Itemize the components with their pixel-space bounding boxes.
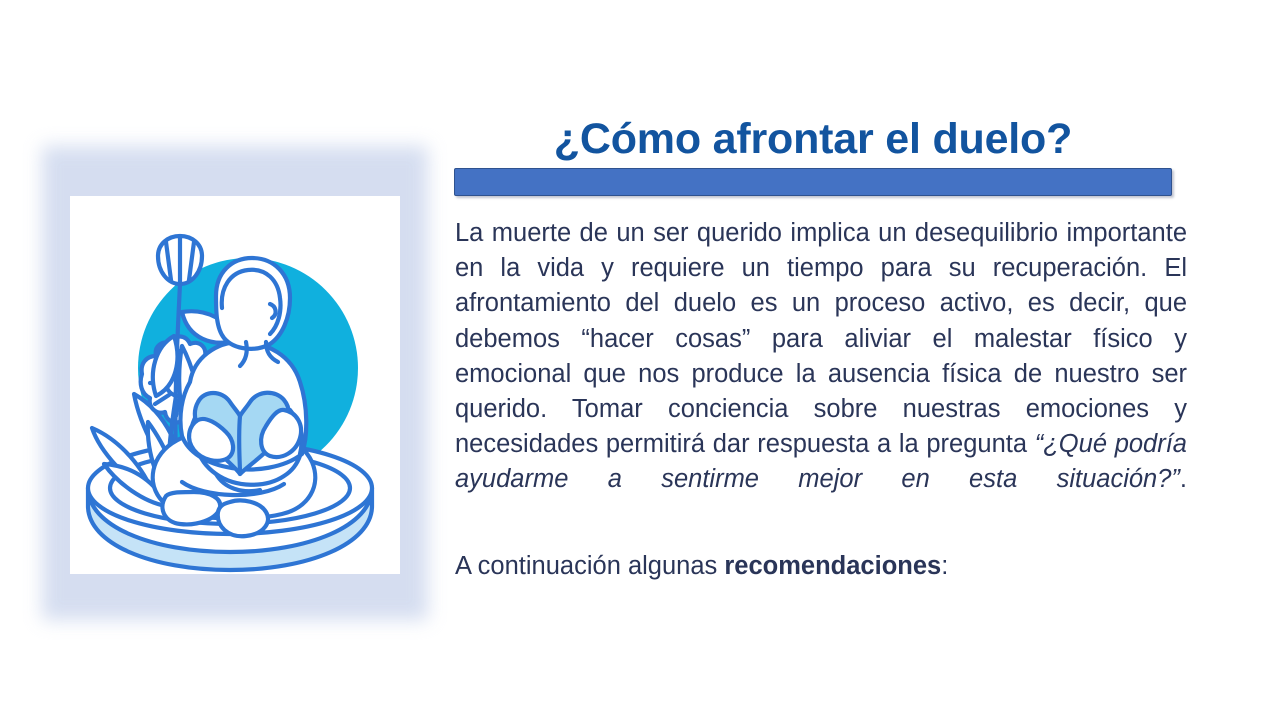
grief-support-illustration: Persona sentada con las piernas cruzadas… <box>70 196 400 574</box>
body-text-block: La muerte de un ser querido implica un d… <box>455 216 1187 584</box>
paragraph-recommendations-lead: A continuación algunas recomendaciones: <box>455 549 1187 584</box>
page-title: ¿Cómo afrontar el duelo? <box>454 117 1172 162</box>
illustration-card: Persona sentada con las piernas cruzadas… <box>70 196 400 574</box>
slide-root: Persona sentada con las piernas cruzadas… <box>0 0 1280 720</box>
paragraph-recommendations-run-2: : <box>941 552 948 580</box>
title-accent-bar <box>454 168 1172 196</box>
paragraph-recommendations-emphasis: recomendaciones <box>724 552 941 580</box>
paragraph-intro-run-2: . <box>1180 465 1187 493</box>
paragraph-intro-run-1: La muerte de un ser querido implica un d… <box>455 219 1187 458</box>
content-column: ¿Cómo afrontar el duelo? La muerte de un… <box>454 0 1186 720</box>
illustration-container: Persona sentada con las piernas cruzadas… <box>42 146 428 620</box>
paragraph-recommendations-run-1: A continuación algunas <box>455 552 724 580</box>
paragraph-intro: La muerte de un ser querido implica un d… <box>455 216 1187 533</box>
